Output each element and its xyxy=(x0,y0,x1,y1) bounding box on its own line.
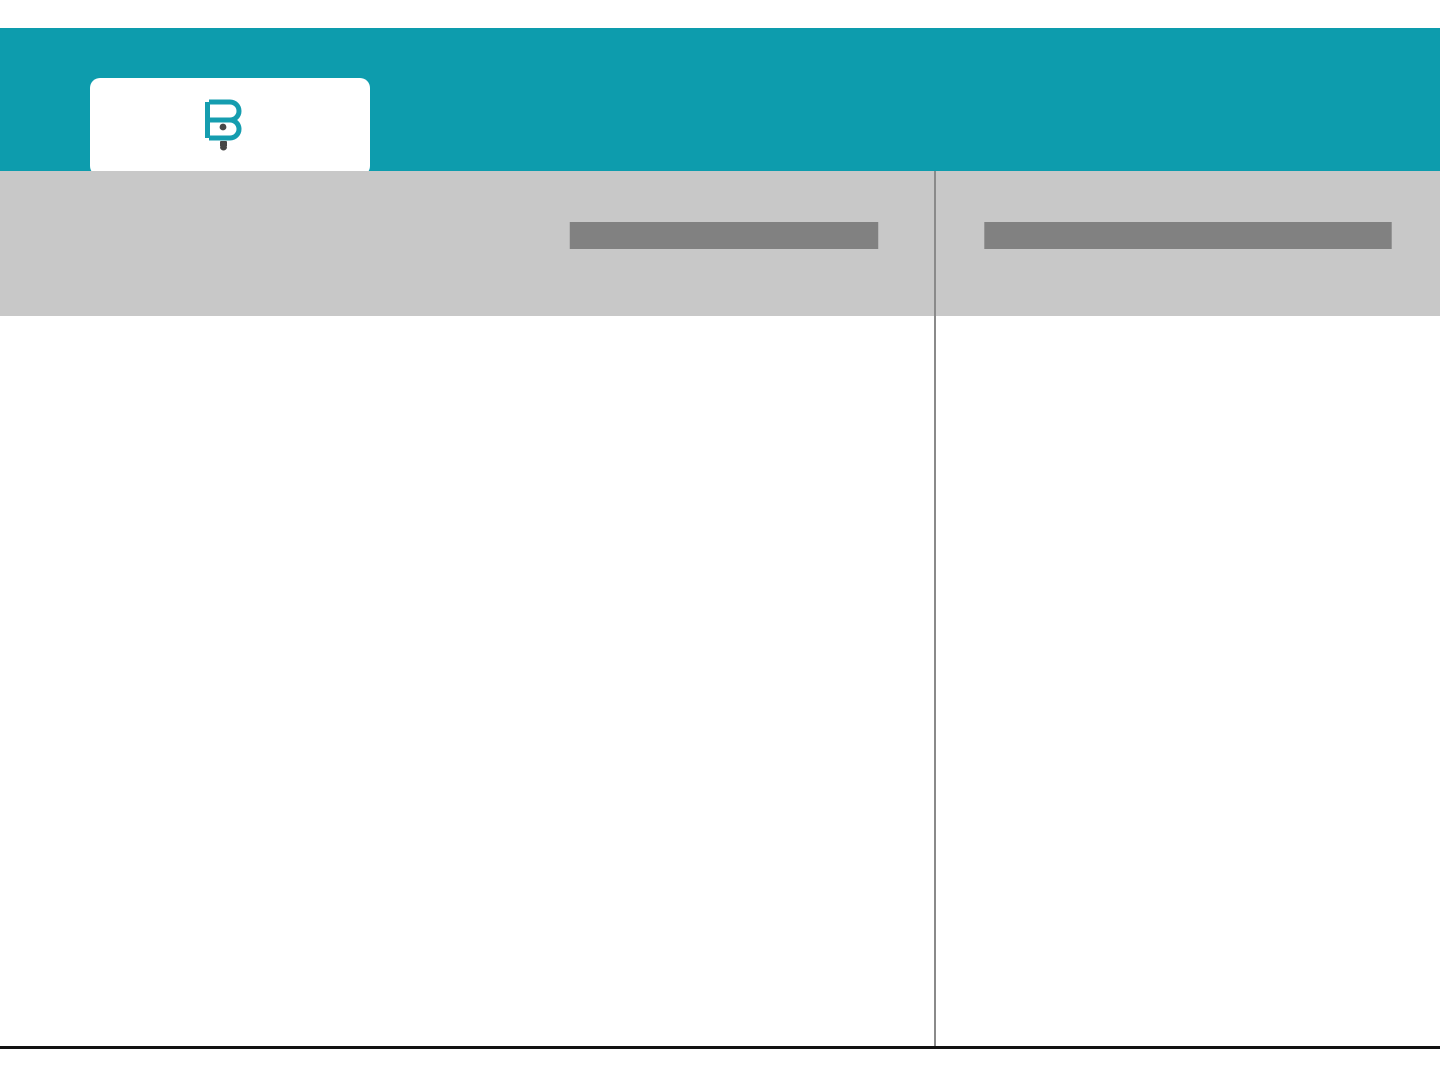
page-title xyxy=(475,28,1405,171)
bochane-logo[interactable] xyxy=(90,78,370,176)
column-group-divider xyxy=(934,171,936,1048)
group-band-alle-merken xyxy=(570,222,878,249)
group-band-renault-dacia-nissan-mitsubishi xyxy=(984,222,1391,249)
bochane-b-mark-icon xyxy=(203,97,249,157)
page-header xyxy=(0,28,1440,171)
afleverpakketten-page xyxy=(0,0,1440,1080)
table-bottom-border xyxy=(0,1046,1440,1049)
